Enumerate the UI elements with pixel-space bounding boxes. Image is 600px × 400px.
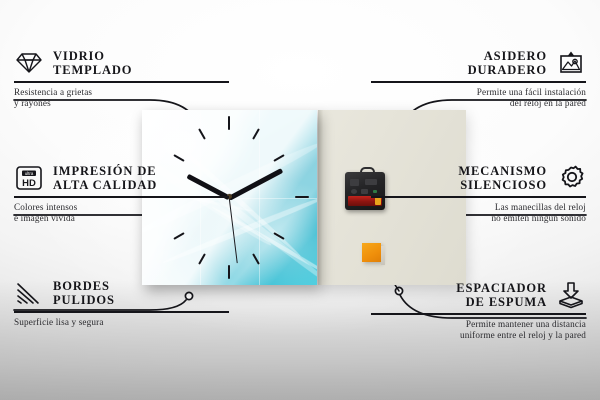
- tick-6: [228, 265, 230, 279]
- feature-header: VIDRIO TEMPLADO: [14, 48, 229, 78]
- feature-mecanismo-silencioso: MECANISMO SILENCIOSO Las manecillas del …: [371, 163, 586, 224]
- ultra-hd-badge-icon: ultra HD: [14, 163, 44, 193]
- feature-divider: [14, 196, 229, 198]
- mechanism-detail: [361, 189, 368, 194]
- feature-divider: [371, 196, 586, 198]
- feature-vidrio-templado: VIDRIO TEMPLADO Resistencia a grietas y …: [14, 48, 229, 109]
- feature-title: ASIDERO DURADERO: [468, 49, 547, 77]
- foam-spacer-side: [381, 246, 385, 265]
- feature-description-line2: y rayones: [14, 98, 229, 109]
- arrow-down-onto-pad-icon: [556, 280, 586, 310]
- feature-description-line1: Permite mantener una distancia: [371, 319, 586, 330]
- feature-description-line2: del reloj en la pared: [371, 98, 586, 109]
- tick-12: [228, 116, 230, 130]
- diamond-icon: [14, 48, 44, 78]
- feature-description-line1: Resistencia a grietas: [14, 87, 229, 98]
- feature-description-line2: e imagen vívida: [14, 213, 229, 224]
- mechanism-detail: [350, 179, 359, 186]
- feature-bordes-pulidos: BORDES PULIDOS Superficie lisa y segura: [14, 278, 229, 328]
- feature-description-line1: Las manecillas del reloj: [371, 202, 586, 213]
- feature-header: MECANISMO SILENCIOSO: [371, 163, 586, 193]
- feature-divider: [14, 311, 229, 313]
- feature-header: ESPACIADOR DE ESPUMA: [371, 280, 586, 310]
- feature-description-line1: Permite una fácil instalación: [371, 87, 586, 98]
- svg-text:HD: HD: [22, 178, 36, 189]
- feature-description-line1: Superficie lisa y segura: [14, 317, 229, 328]
- infographic-canvas: VIDRIO TEMPLADO Resistencia a grietas y …: [0, 0, 600, 400]
- feature-title: BORDES PULIDOS: [53, 279, 115, 307]
- feature-divider: [371, 81, 586, 83]
- hanging-picture-frame-icon: [556, 48, 586, 78]
- wall-panel-edge: [318, 110, 323, 285]
- feature-description-line1: Colores intensos: [14, 202, 229, 213]
- feature-divider: [371, 313, 586, 315]
- feature-title: VIDRIO TEMPLADO: [53, 49, 132, 77]
- feature-header: BORDES PULIDOS: [14, 278, 229, 308]
- feature-description-line2: no emiten ningún sonido: [371, 213, 586, 224]
- feature-divider: [14, 81, 229, 83]
- foam-spacer-piece: [362, 243, 381, 262]
- feature-espaciador-espuma: ESPACIADOR DE ESPUMA Permite mantener un…: [371, 280, 586, 341]
- feature-header: ASIDERO DURADERO: [371, 48, 586, 78]
- svg-text:ultra: ultra: [25, 171, 34, 176]
- feature-title: MECANISMO SILENCIOSO: [458, 164, 547, 192]
- feature-description-line2: uniforme entre el reloj y la pared: [371, 330, 586, 341]
- feature-header: ultra HD IMPRESIÓN DE ALTA CALIDAD: [14, 163, 229, 193]
- polished-edge-lines-icon: [14, 278, 44, 308]
- feature-title: ESPACIADOR DE ESPUMA: [456, 281, 547, 309]
- feature-impresion-alta-calidad: ultra HD IMPRESIÓN DE ALTA CALIDAD Color…: [14, 163, 229, 224]
- gear-icon: [556, 163, 586, 193]
- tick-3: [295, 196, 309, 198]
- feature-asidero-duradero: ASIDERO DURADERO Permite una fácil insta…: [371, 48, 586, 109]
- mechanism-detail: [351, 189, 357, 194]
- feature-title: IMPRESIÓN DE ALTA CALIDAD: [53, 164, 157, 192]
